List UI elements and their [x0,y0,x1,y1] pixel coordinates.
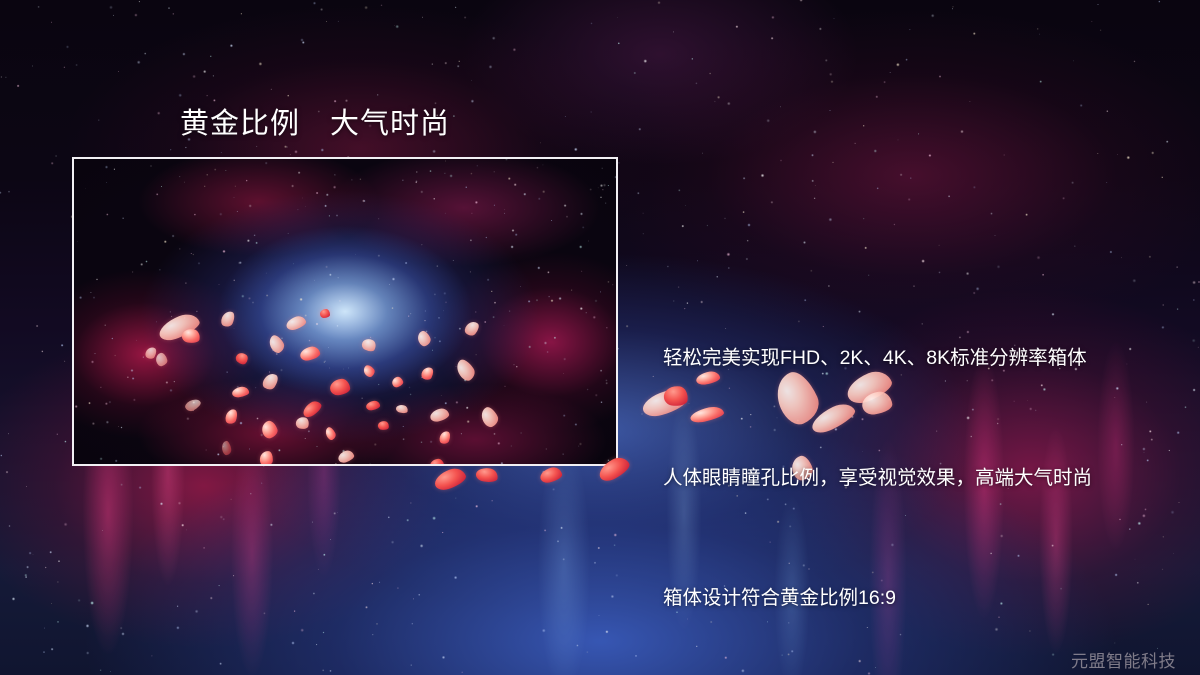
feature-line: 轻松完美实现FHD、2K、4K、8K标准分辨率箱体 [663,338,1163,378]
display-preview-frame [72,157,618,466]
petal [539,466,564,485]
page-title: 黄金比例 大气时尚 [180,100,450,142]
feature-description: 轻松完美实现FHD、2K、4K、8K标准分辨率箱体 人体眼睛瞳孔比例，享受视觉效… [663,258,1163,675]
feature-line: 箱体设计符合黄金比例16:9 [663,578,1163,618]
petal [475,466,499,484]
screen-starfield [74,159,616,464]
slide-canvas: 黄金比例 大气时尚 轻松完美实现FHD、2K、4K、8K标准分辨率箱体 人体眼睛… [0,0,1200,675]
petal [320,309,330,318]
brand-watermark: 元盟智能科技 [1071,647,1176,672]
petal [259,450,273,466]
petal [432,465,468,493]
feature-line: 人体眼睛瞳孔比例，享受视觉效果，高端大气时尚 [663,458,1163,498]
